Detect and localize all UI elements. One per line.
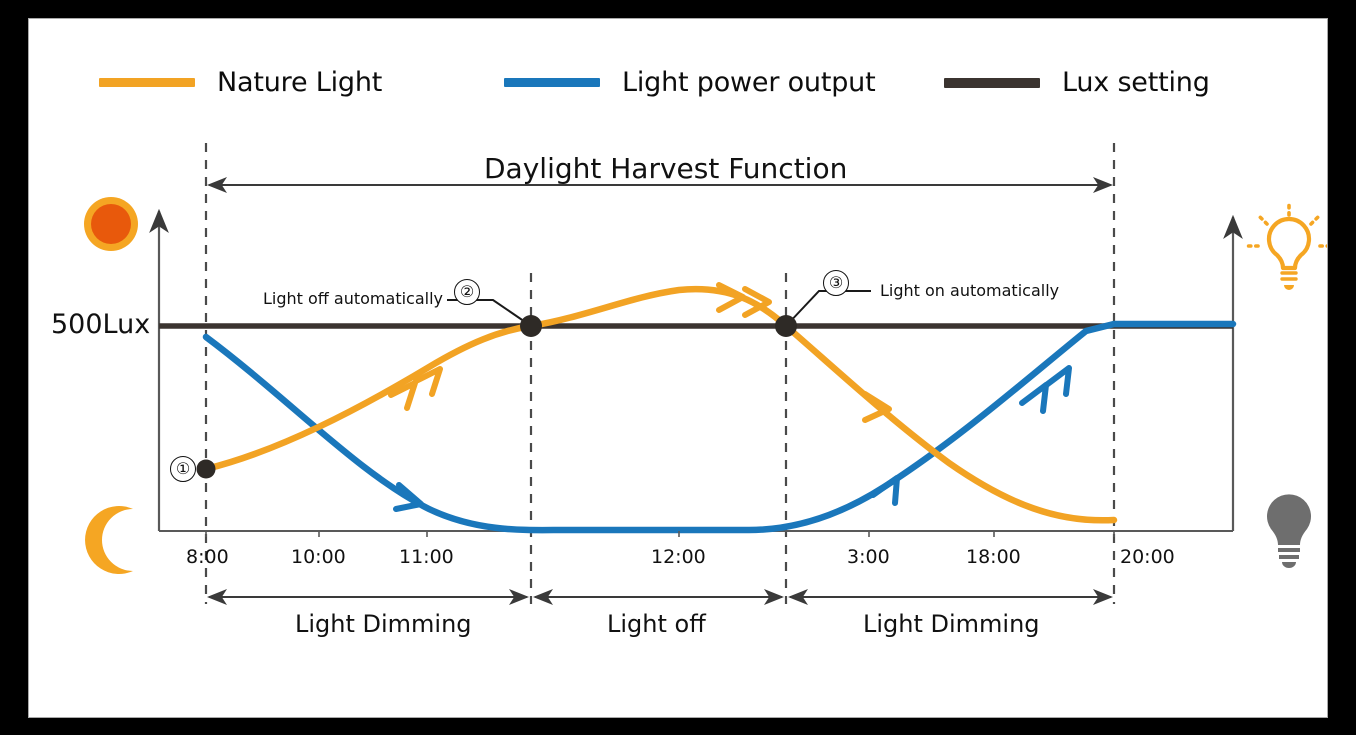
light-power-output-direction-arrows bbox=[396, 368, 1069, 509]
callout-label-light-off-automatically: Light off automatically bbox=[263, 289, 443, 308]
band-label-light-dimming-1: Light Dimming bbox=[295, 610, 472, 638]
screenshot-frame: Nature Light Light power output Lux sett… bbox=[0, 0, 1356, 735]
band-label-light-off: Light off bbox=[607, 610, 706, 638]
x-tick-label: 20:00 bbox=[1120, 546, 1175, 568]
x-tick-label: 3:00 bbox=[847, 546, 890, 568]
y-axis-lux-label: 500Lux bbox=[51, 309, 150, 340]
callout-number-1: ① bbox=[170, 456, 196, 482]
page-title: Daylight Harvest Function bbox=[484, 152, 847, 185]
light-bulb-on-icon bbox=[1248, 205, 1328, 290]
callout-number-2: ② bbox=[454, 279, 480, 305]
light-bulb-off-icon bbox=[1267, 494, 1311, 568]
callout-3-leader bbox=[786, 291, 871, 326]
marker-dot-3 bbox=[775, 315, 797, 337]
x-tick-label: 8:00 bbox=[186, 546, 229, 568]
callout-number-3: ③ bbox=[823, 270, 849, 296]
band-label-light-dimming-2: Light Dimming bbox=[863, 610, 1040, 638]
dashed-guide-lines bbox=[206, 143, 1114, 604]
diagram-panel: Nature Light Light power output Lux sett… bbox=[28, 18, 1328, 718]
marker-dot-1 bbox=[197, 460, 216, 479]
x-tick-label: 12:00 bbox=[651, 546, 706, 568]
moon-icon bbox=[85, 506, 133, 574]
x-tick-label: 10:00 bbox=[291, 546, 346, 568]
callout-label-light-on-automatically: Light on automatically bbox=[880, 281, 1059, 300]
sun-icon bbox=[84, 197, 138, 251]
callout-2-leader bbox=[447, 300, 531, 326]
marker-dot-2 bbox=[520, 315, 542, 337]
light-power-output-curve bbox=[206, 324, 1233, 530]
x-tick-label: 18:00 bbox=[966, 546, 1021, 568]
x-tick-label: 11:00 bbox=[399, 546, 454, 568]
